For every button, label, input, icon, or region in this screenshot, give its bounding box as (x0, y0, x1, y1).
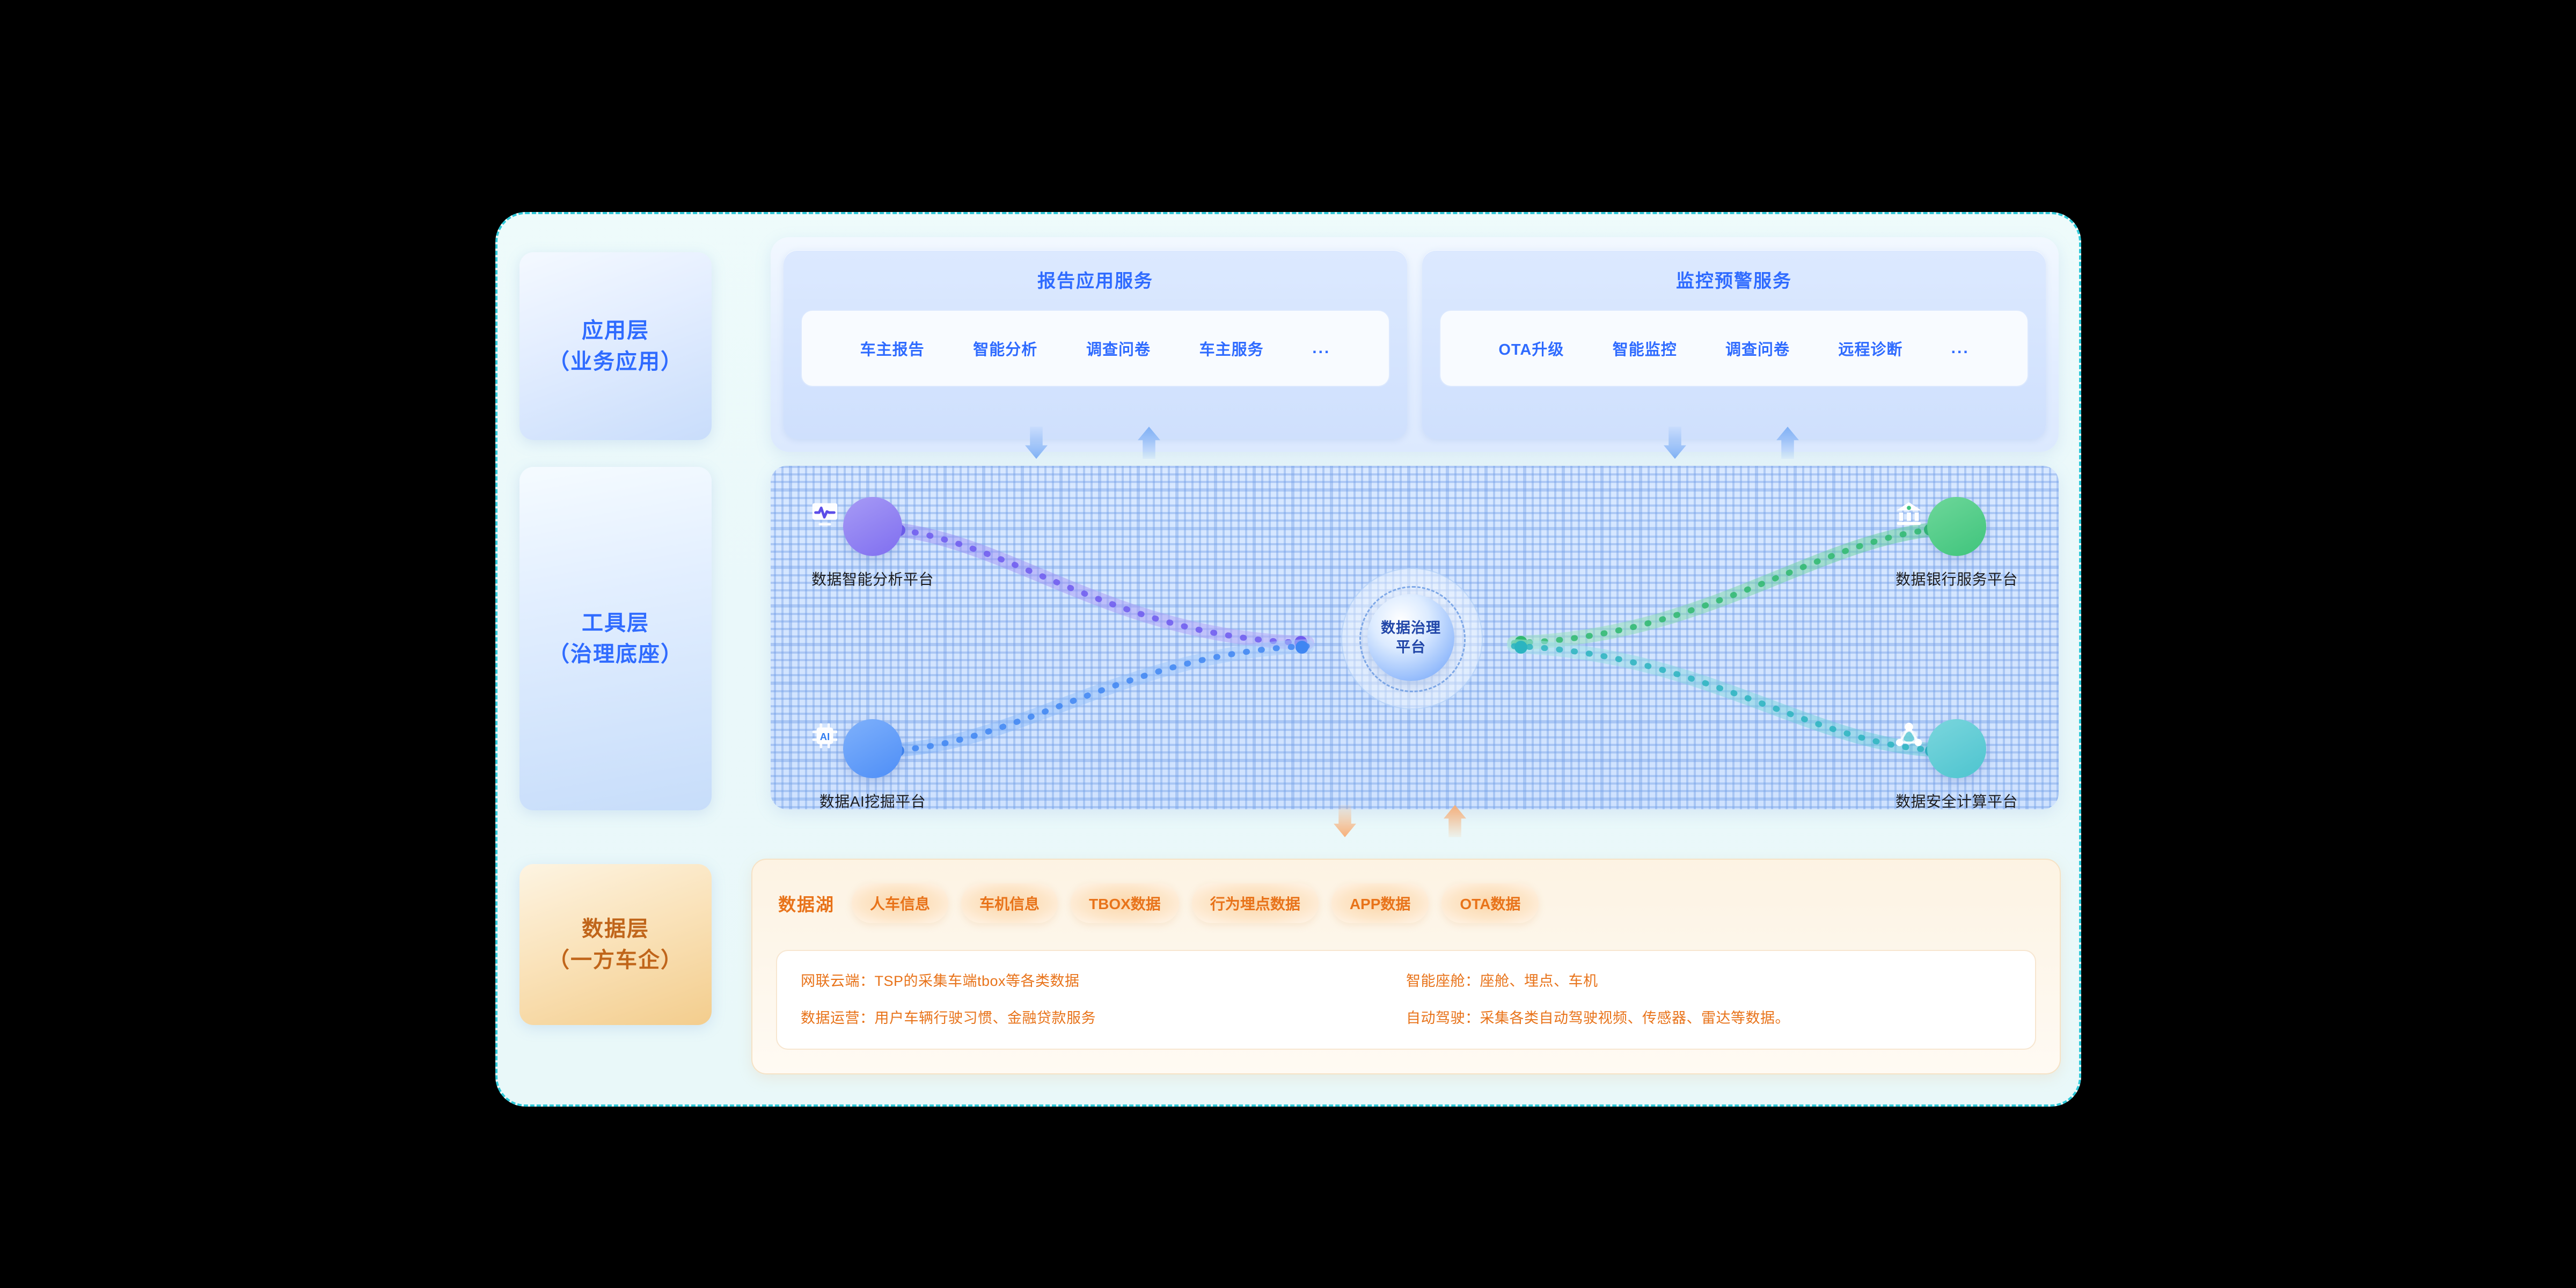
description-line: 网联云端：TSP的采集车端tbox等各类数据 (801, 969, 1406, 990)
node-label: 数据智能分析平台 (811, 568, 934, 589)
service-chip[interactable]: 调查问卷 (1086, 337, 1151, 360)
service-chip[interactable]: 车主服务 (1199, 337, 1264, 360)
ai-chip-icon: AI (843, 719, 902, 778)
diagram-canvas: 应用层 （业务应用） 工具层 （治理底座） 数据层 （一方车企） 报告应用服务 … (0, 0, 2576, 1288)
tool-node-bank[interactable]: 数据银行服务平台 (1892, 497, 2021, 589)
data-lake-chip[interactable]: TBOX数据 (1071, 883, 1179, 923)
node-label: 数据AI挖掘平台 (819, 790, 926, 809)
tool-layer-panel: 数据智能分析平台 AI (771, 466, 2059, 809)
service-title: 报告应用服务 (1037, 266, 1153, 292)
layer-label-tool[interactable]: 工具层 （治理底座） (519, 467, 712, 810)
layer-label-data[interactable]: 数据层 （一方车企） (519, 864, 712, 1025)
data-lake-panel: 数据湖 人车信息 车机信息 TBOX数据 行为埋点数据 APP数据 OTA数据 … (751, 859, 2061, 1074)
central-hub[interactable]: 数据治理 平台 (1341, 568, 1481, 707)
layer-title: 应用层 (582, 315, 649, 346)
data-lake-chip[interactable]: 行为埋点数据 (1192, 883, 1319, 923)
tool-node-ai-mining[interactable]: AI 数据AI挖掘平台 (808, 719, 937, 809)
hub-title-line1: 数据治理 (1381, 618, 1441, 638)
data-lake-chip-row: 数据湖 人车信息 车机信息 TBOX数据 行为埋点数据 APP数据 OTA数据 (778, 883, 1539, 923)
service-chip-more[interactable]: ... (1951, 339, 1970, 357)
service-chip[interactable]: 调查问卷 (1725, 337, 1790, 360)
description-line: 数据运营：用户车辆行驶习惯、金融贷款服务 (801, 1006, 1406, 1027)
service-chip[interactable]: 远程诊断 (1838, 337, 1902, 360)
service-card-report[interactable]: 报告应用服务 车主报告 智能分析 调查问卷 车主服务 ... (784, 250, 1407, 439)
data-lake-chip[interactable]: APP数据 (1331, 883, 1429, 923)
description-line: 自动驾驶：采集各类自动驾驶视频、传感器、雷达等数据。 (1406, 1006, 2011, 1027)
service-chip[interactable]: 智能监控 (1613, 337, 1677, 360)
service-card-monitor[interactable]: 监控预警服务 OTA升级 智能监控 调查问卷 远程诊断 ... (1422, 250, 2046, 439)
node-label: 数据安全计算平台 (1896, 790, 2018, 809)
hub-core: 数据治理 平台 (1367, 594, 1454, 681)
service-chip[interactable]: OTA升级 (1498, 337, 1564, 360)
description-column-right: 智能座舱：座舱、埋点、车机 自动驾驶：采集各类自动驾驶视频、传感器、雷达等数据。 (1406, 969, 2011, 1030)
layer-label-application[interactable]: 应用层 （业务应用） (519, 252, 712, 440)
data-lake-title: 数据湖 (778, 890, 835, 916)
description-line: 智能座舱：座舱、埋点、车机 (1406, 969, 2011, 990)
svg-text:AI: AI (820, 731, 830, 742)
layer-title: 工具层 (582, 608, 649, 639)
description-column-left: 网联云端：TSP的采集车端tbox等各类数据 数据运营：用户车辆行驶习惯、金融贷… (801, 969, 1406, 1030)
layer-subtitle: （一方车企） (548, 945, 683, 976)
service-title: 监控预警服务 (1676, 266, 1792, 292)
tool-node-secure[interactable]: 数据安全计算平台 (1892, 719, 2021, 809)
tool-node-analysis[interactable]: 数据智能分析平台 (808, 497, 937, 589)
hub-title-line2: 平台 (1396, 638, 1426, 657)
layer-subtitle: （业务应用） (548, 346, 683, 377)
service-chip[interactable]: 智能分析 (973, 337, 1037, 360)
node-label: 数据银行服务平台 (1896, 568, 2018, 589)
data-lake-chip[interactable]: 人车信息 (852, 883, 948, 923)
data-lake-chip[interactable]: 车机信息 (961, 883, 1058, 923)
service-chip-more[interactable]: ... (1312, 339, 1330, 357)
data-lake-chip[interactable]: OTA数据 (1441, 883, 1539, 923)
secure-network-icon (1927, 719, 1986, 778)
layer-title: 数据层 (582, 913, 649, 945)
application-layer-panel: 报告应用服务 车主报告 智能分析 调查问卷 车主服务 ... 监控预警服务 OT… (771, 237, 2059, 452)
service-chip[interactable]: 车主报告 (860, 337, 925, 360)
service-chip-bar: 车主报告 智能分析 调查问卷 车主服务 ... (801, 310, 1390, 387)
monitor-pulse-icon (843, 497, 902, 556)
service-chip-bar: OTA升级 智能监控 调查问卷 远程诊断 ... (1439, 310, 2029, 387)
layer-subtitle: （治理底座） (548, 639, 683, 670)
bank-icon (1927, 497, 1986, 556)
data-source-description-box: 网联云端：TSP的采集车端tbox等各类数据 数据运营：用户车辆行驶习惯、金融贷… (776, 950, 2036, 1050)
